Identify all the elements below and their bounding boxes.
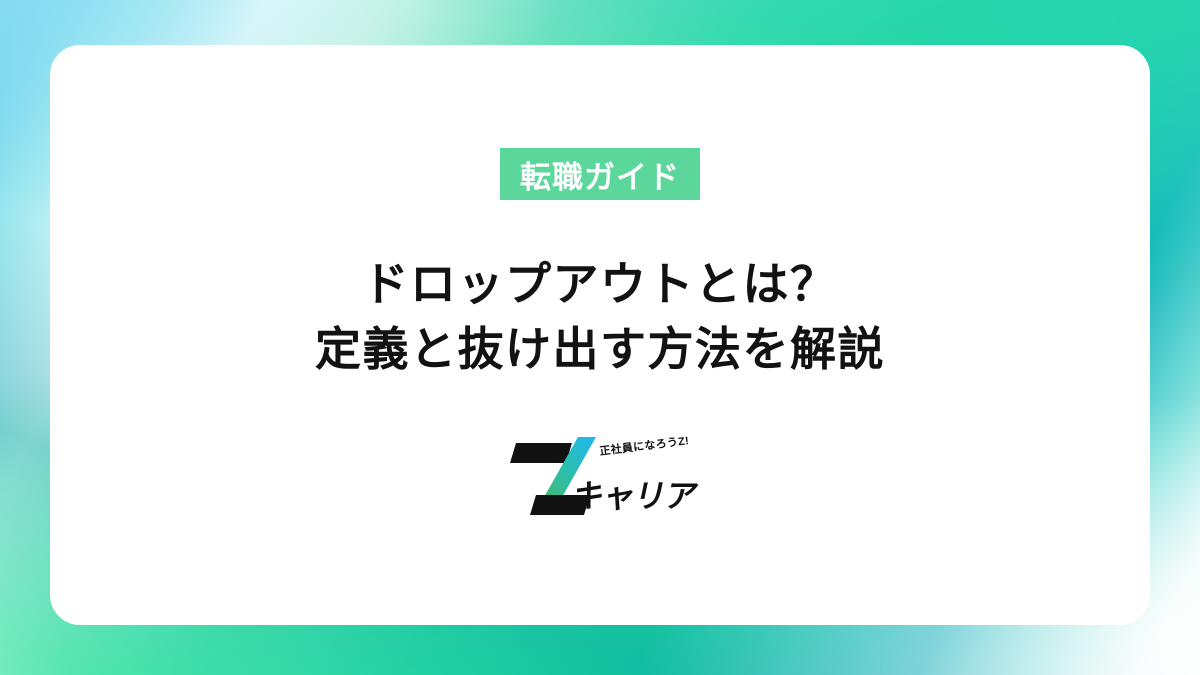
slide-canvas: 転職ガイド ドロップアウトとは？ 定義と抜け出す方法を解説 (0, 0, 1200, 675)
z-career-logo: 正社員になろうZ! キャリア (500, 433, 700, 519)
category-badge: 転職ガイド (500, 148, 700, 200)
logo-wordmark: キャリア (569, 478, 700, 514)
content-card: 転職ガイド ドロップアウトとは？ 定義と抜け出す方法を解説 (50, 45, 1150, 625)
page-title: ドロップアウトとは？ 定義と抜け出す方法を解説 (315, 252, 885, 383)
z-career-logo-svg: 正社員になろうZ! キャリア (500, 433, 700, 519)
logo-tagline: 正社員になろうZ! (599, 433, 690, 458)
